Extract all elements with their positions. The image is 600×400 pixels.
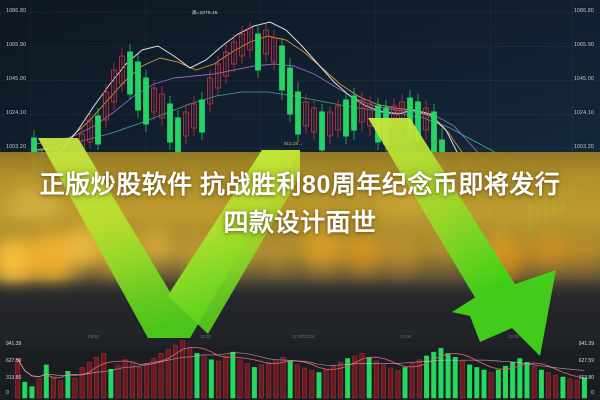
headline-text: 正版炒股软件 抗战胜利80周年纪念币即将发行 四款设计面世 [0,166,600,242]
volume-bar [130,362,134,398]
price-axis-label-left-0: 1086.80 [6,9,26,14]
volume-bar [223,356,227,398]
volume-bar [152,358,156,398]
volume-bar [475,367,479,398]
volume-bar [331,366,335,398]
price-axis-label-right-3: 1024.10 [574,111,594,116]
volume-axis-label-right-2: 313.80 [579,376,594,381]
volume-bar [23,382,27,398]
volume-bar [396,371,400,398]
volume-bar [266,362,270,398]
volume-bar [116,365,120,398]
volume-bar [374,361,378,398]
volume-bar [561,377,565,398]
volume-bar [553,375,557,398]
volume-axis-label-left-1: 627.59 [6,359,21,364]
volume-bar [188,348,192,398]
volume-bar [568,379,572,398]
volume-bar [94,357,98,398]
volume-bar [37,379,41,398]
volume-bar [101,353,105,398]
volume-bar [525,362,529,398]
volume-bar [58,381,62,398]
volume-bar [496,370,500,398]
volume-bar [388,368,392,398]
volume-bar [453,357,457,398]
volume-bar [310,371,314,398]
volume-bar [467,365,471,398]
volume-bar [209,360,213,398]
volume-bar [123,360,127,398]
volume-axis-label-left-3: 0 [6,391,9,396]
price-axis-label-right-0: 1086.80 [574,9,594,14]
volume-bar [202,357,206,398]
volume-bar [302,368,306,398]
volume-bar [252,367,256,398]
price-axis-label-left-3: 1024.10 [6,111,26,116]
volume-bar [137,367,141,398]
volume-bar [281,357,285,398]
volume-bar [274,360,278,398]
volume-bar [44,365,48,398]
volume-bar [73,378,77,398]
volume-bar [295,365,299,398]
price-axis-label-right-1: 1065.90 [574,43,594,48]
volume-bar [489,373,493,398]
volume-bar [460,361,464,398]
volume-axis-label-left-2: 313.80 [6,376,21,381]
price-axis-label-left-1: 1065.90 [6,43,26,48]
volume-bar [231,352,235,398]
volume-bar [503,366,507,398]
volume-bar [403,367,407,398]
volume-bar [166,350,170,398]
price-axis-label-left-2: 1045.00 [6,77,26,82]
price-axis-label-right-2: 1045.00 [574,77,594,82]
volume-bar [317,373,321,398]
volume-bar [546,373,550,398]
volume-bar [539,370,543,398]
volume-bar [30,387,34,398]
volume-bar [238,360,242,398]
volume-bar [87,362,91,398]
volume-bar [575,380,579,398]
volume-axis-label-right-1: 627.59 [579,359,594,364]
volume-bar [80,367,84,398]
headline-line-1: 正版炒股软件 抗战胜利80周年纪念币即将发行 [40,171,561,199]
low-annotation: 912.28→ [284,141,303,146]
high-annotation: 高=1079.45 [192,10,218,16]
volume-bar [324,370,328,398]
volume-bar [195,353,199,398]
volume-bar [259,365,263,398]
volume-bar [216,361,220,398]
volume-bar [532,366,536,398]
volume-bar [109,369,113,398]
volume-bar [245,364,249,398]
volume-bar [381,365,385,398]
news-image-card: 1086.80 1065.90 1045.00 1024.10 1003.20 … [0,0,600,400]
volume-bar [51,377,55,398]
headline-line-2: 四款设计面世 [0,204,600,242]
volume-axis-label-right-3: 0 [591,391,594,396]
volume-bar [482,370,486,398]
volume-bar [410,364,414,398]
volume-bar [518,358,522,398]
volume-bar [145,364,149,398]
volume-bar [288,361,292,398]
